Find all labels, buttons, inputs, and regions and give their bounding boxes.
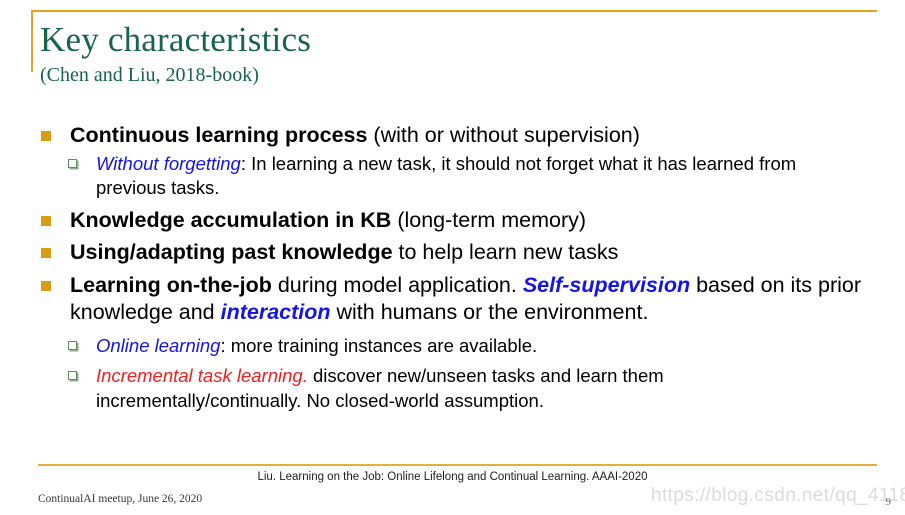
bullet-lead-text: Continuous learning process xyxy=(70,123,367,147)
square-bullet-icon xyxy=(41,248,51,258)
bullet-lead-text: Learning on-the-job xyxy=(70,273,272,297)
subbullet-without-forgetting: Without forgetting: In learning a new ta… xyxy=(0,152,905,201)
bullet-rest-text: (long-term memory) xyxy=(391,208,586,232)
title-block: Key characteristics (Chen and Liu, 2018-… xyxy=(40,20,840,88)
page-title: Key characteristics xyxy=(40,20,840,60)
citation-text: Liu. Learning on the Job: Online Lifelon… xyxy=(0,470,905,484)
square-bullet-icon xyxy=(41,216,51,226)
bullet-using-adapting-past-knowledge: Using/adapting past knowledge to help le… xyxy=(0,239,905,267)
bullet-emphasis-self-supervision: Self-supervision xyxy=(523,273,690,297)
hollow-square-bullet-icon xyxy=(68,341,77,350)
bullet-rest-text: (with or without supervision) xyxy=(367,123,639,147)
bullet-lead-text: Knowledge accumulation in KB xyxy=(70,208,391,232)
hollow-square-bullet-icon xyxy=(68,159,77,168)
subbullet-rest-text: : more training instances are available. xyxy=(220,335,537,356)
meetup-label: ContinualAI meetup, June 26, 2020 xyxy=(38,492,202,506)
hollow-square-bullet-icon xyxy=(68,371,77,380)
bullet-mid-text-1: during model application. xyxy=(272,273,523,297)
bullet-mid-text-3: with humans or the environment. xyxy=(331,300,649,324)
subbullet-incremental-task-learning: Incremental task learning. discover new/… xyxy=(0,364,905,413)
watermark-text: https://blog.csdn.net/qq_41185868 xyxy=(651,485,905,507)
left-gold-rule xyxy=(31,10,33,72)
footer-gold-rule xyxy=(38,464,877,466)
page-number: 9 xyxy=(886,496,892,508)
bullet-learning-on-the-job: Learning on-the-job during model applica… xyxy=(0,272,905,327)
subbullet-online-learning: Online learning: more training instances… xyxy=(0,334,905,359)
subbullet-emphasis-text: Incremental task learning. xyxy=(96,365,308,386)
page-subtitle: (Chen and Liu, 2018-book) xyxy=(40,62,840,88)
bullet-lead-text: Using/adapting past knowledge xyxy=(70,240,393,264)
top-gold-rule xyxy=(31,10,877,12)
square-bullet-icon xyxy=(41,281,51,291)
subbullet-emphasis-text: Online learning xyxy=(96,335,220,356)
square-bullet-icon xyxy=(41,131,51,141)
subbullet-emphasis-text: Without forgetting xyxy=(96,153,241,174)
bullet-knowledge-accumulation: Knowledge accumulation in KB (long-term … xyxy=(0,207,905,235)
bullet-continuous-learning-process: Continuous learning process (with or wit… xyxy=(0,122,905,150)
bullet-list: Continuous learning process (with or wit… xyxy=(0,122,905,415)
bullet-rest-text: to help learn new tasks xyxy=(393,240,619,264)
bullet-emphasis-interaction: interaction xyxy=(221,300,331,324)
slide-canvas: Key characteristics (Chen and Liu, 2018-… xyxy=(0,0,905,515)
